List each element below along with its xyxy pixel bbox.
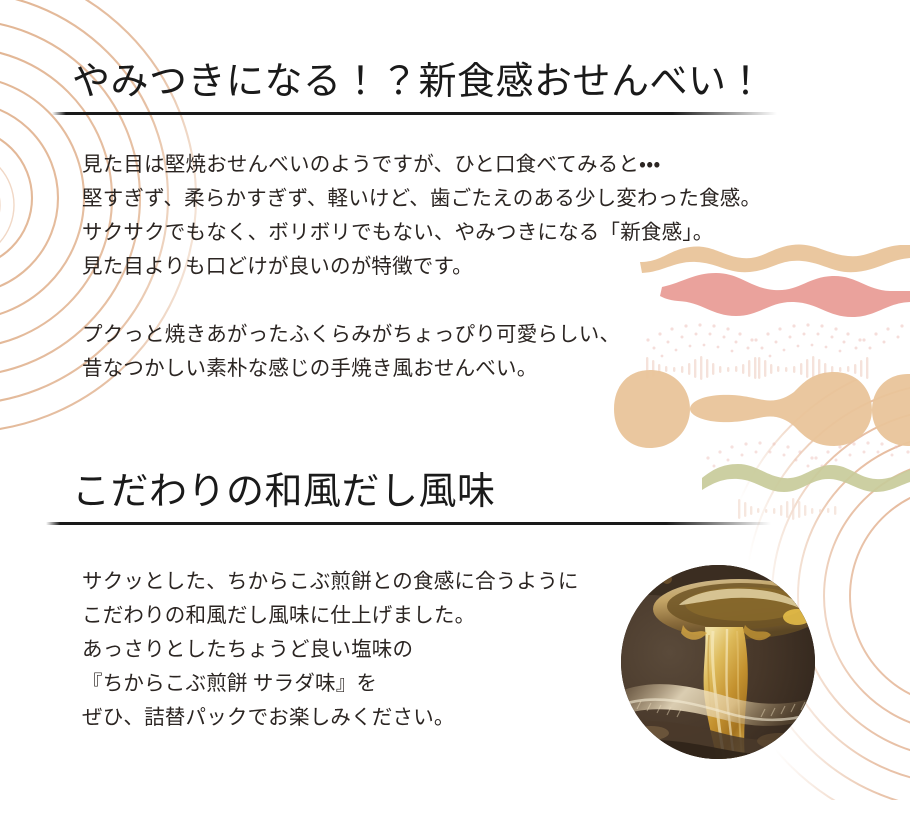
body-line: 見た目は堅焼おせんべいのようですが、ひと口食べてみると・・・	[82, 148, 761, 182]
body-line: サクサクでもなく、ボリボリでもない、やみつきになる「新食感」。	[82, 216, 761, 250]
body-text-washu-dashi: サクッとした、ちからこぶ煎餅との食感に合うように こだわりの和風だし風味に仕上げ…	[82, 565, 579, 735]
section-heading-new-texture: やみつきになる！？新食感おせんべい！	[72, 63, 765, 101]
section-heading-washu-dashi: こだわりの和風だし風味	[72, 473, 496, 511]
body-line: プクっと焼きあがったふくらみがちょっぴり可愛らしい、	[82, 318, 761, 352]
dashi-pour-photo	[621, 565, 815, 759]
body-line: 『ちからこぶ煎餅 サラダ味』を	[82, 667, 579, 701]
body-line: あっさりとしたちょうど良い塩味の	[82, 633, 579, 667]
heading-rule-washu-dashi	[46, 522, 777, 525]
heading-rule-new-texture	[52, 112, 777, 115]
body-line: 堅すぎず、柔らかすぎず、軽いけど、歯ごたえのある少し変わった食感。	[82, 182, 761, 216]
body-line: こだわりの和風だし風味に仕上げました。	[82, 599, 579, 633]
body-line: 昔なつかしい素朴な感じの手焼き風おせんべい。	[82, 352, 761, 386]
body-line: 見た目よりも口どけが良いのが特徴です。	[82, 250, 761, 284]
body-line: ぜひ、詰替パックでお楽しみください。	[82, 701, 579, 735]
product-description-page: やみつきになる！？新食感おせんべい！ 見た目は堅焼おせんべいのようですが、ひと口…	[0, 0, 910, 830]
body-line: サクッとした、ちからこぶ煎餅との食感に合うように	[82, 565, 579, 599]
paragraph-gap	[82, 284, 761, 318]
body-text-new-texture: 見た目は堅焼おせんべいのようですが、ひと口食べてみると・・・ 堅すぎず、柔らかす…	[82, 148, 761, 386]
